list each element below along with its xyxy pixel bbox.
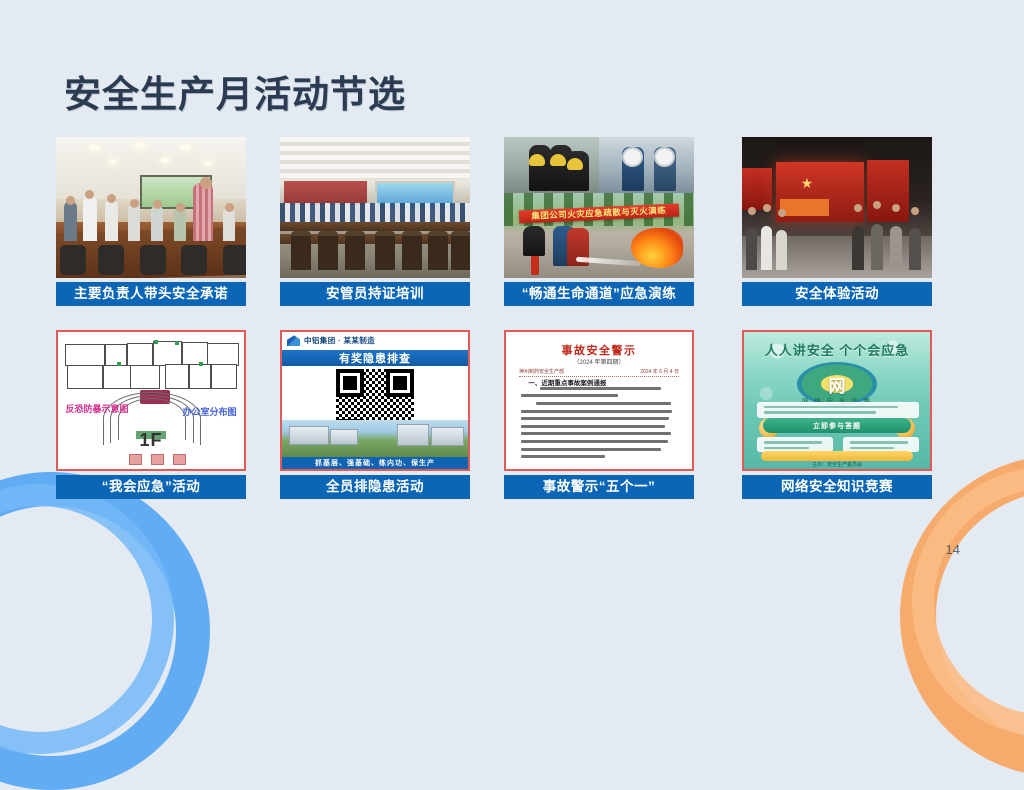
floor-plan-level-label: 1F (139, 430, 162, 451)
poster-footer: 抓基层、强基础、练内功、保生产 (282, 457, 468, 469)
poster-title: 有奖隐患排查 (282, 350, 468, 366)
activity-card-4[interactable]: ★ 安全体验活动 (742, 137, 932, 306)
activity-card-2[interactable]: 安管员持证培训 (280, 137, 470, 306)
decorative-blue-ring-outer (0, 472, 210, 790)
document-body (521, 387, 677, 463)
activity-caption-3[interactable]: “畅通生命通道”应急演练 (504, 282, 694, 306)
activity-caption-4[interactable]: 安全体验活动 (742, 282, 932, 306)
quiz-poster-headline: 人人讲安全 个个会应急 (744, 340, 930, 359)
activity-caption-2[interactable]: 安管员持证培训 (280, 282, 470, 306)
poster-brand: 中铝集团 · 某某制造 (304, 335, 375, 346)
document-heading: 一、近期重点事故案例通报 (528, 377, 606, 387)
activity-image-7: 事故安全警示 （2024 年第四期） 神州制药安全生产部 2024 年 6 月 … (504, 330, 694, 471)
document-subtitle: （2024 年第四期） (506, 357, 692, 366)
activity-card-grid: 主要负责人带头安全承诺 安管员持证培训 (56, 137, 936, 505)
activity-caption-6[interactable]: 全员排隐患活动 (280, 475, 470, 499)
company-logo-icon (287, 335, 300, 346)
decorative-orange-ring-inner (912, 467, 1024, 737)
decorative-blue-ring-inner (0, 484, 174, 754)
activity-image-5: 1F 反恐防暴示意图 办公室分布图 (56, 330, 246, 471)
quiz-poster-foot: 主办：安全生产委员会 (744, 461, 930, 468)
activity-card-3[interactable]: 集团公司火灾应急疏散与灭火演练 “畅通生命通道”应急演练 (504, 137, 694, 306)
page-title: 安全生产月活动节选 (64, 64, 406, 118)
quiz-badge-char: 网 (829, 372, 846, 397)
activity-card-8[interactable]: 人人讲安全 个个会应急 网 网 络 安 全 竞 赛 立即参与答题 (742, 330, 932, 499)
activity-caption-5[interactable]: “我会应急”活动 (56, 475, 246, 499)
document-title: 事故安全警示 (506, 342, 692, 358)
page-number: 14 (946, 542, 960, 557)
activity-image-6: 中铝集团 · 某某制造 有奖隐患排查 扫描二维码参与排查 抓基层、强基础、练内功… (280, 330, 470, 471)
activity-image-3: 集团公司火灾应急疏散与灭火演练 (504, 137, 694, 278)
activity-card-5[interactable]: 1F 反恐防暴示意图 办公室分布图 “我会应急”活动 (56, 330, 246, 499)
quiz-cta-button[interactable]: 立即参与答题 (763, 418, 912, 433)
activity-image-2 (280, 137, 470, 278)
activity-caption-1[interactable]: 主要负责人带头安全承诺 (56, 282, 246, 306)
activity-card-6[interactable]: 中铝集团 · 某某制造 有奖隐患排查 扫描二维码参与排查 抓基层、强基础、练内功… (280, 330, 470, 499)
activity-image-4: ★ (742, 137, 932, 278)
activity-caption-8[interactable]: 网络安全知识竞赛 (742, 475, 932, 499)
document-issuer: 神州制药安全生产部 (519, 368, 564, 375)
floor-plan-annotation-left: 反恐防暴示意图 (65, 403, 128, 415)
activity-image-1 (56, 137, 246, 278)
activity-card-7[interactable]: 事故安全警示 （2024 年第四期） 神州制药安全生产部 2024 年 6 月 … (504, 330, 694, 499)
activity-card-1[interactable]: 主要负责人带头安全承诺 (56, 137, 246, 306)
activity-caption-7[interactable]: 事故警示“五个一” (504, 475, 694, 499)
document-date: 2024 年 6 月 4 日 (640, 368, 679, 375)
floor-plan-annotation-right: 办公室分布图 (183, 406, 237, 418)
activity-image-8: 人人讲安全 个个会应急 网 网 络 安 全 竞 赛 立即参与答题 (742, 330, 932, 471)
